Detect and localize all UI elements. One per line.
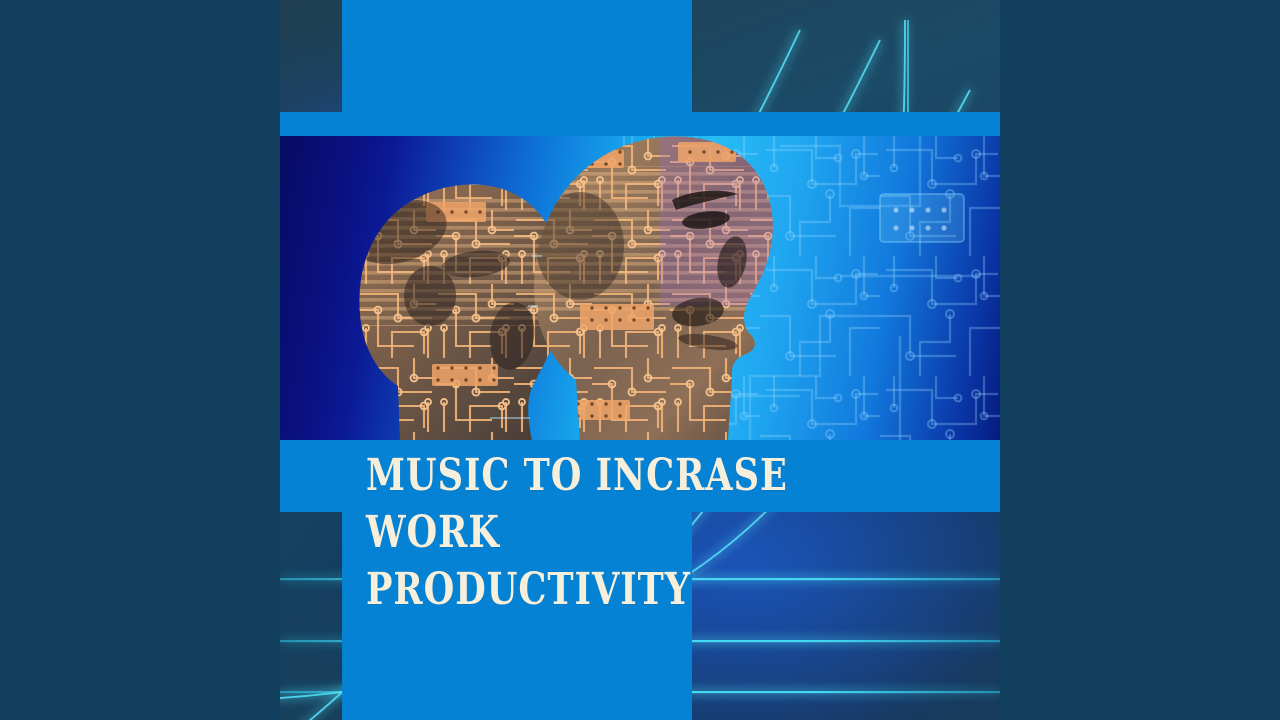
media-art-canvas: Music to Incrase Work Productivity — [0, 0, 1280, 720]
accent-blue-top-band — [280, 112, 1000, 137]
circuit-head-artwork — [280, 136, 1000, 441]
artwork-illustration — [280, 136, 1000, 441]
title-band — [280, 440, 1000, 512]
